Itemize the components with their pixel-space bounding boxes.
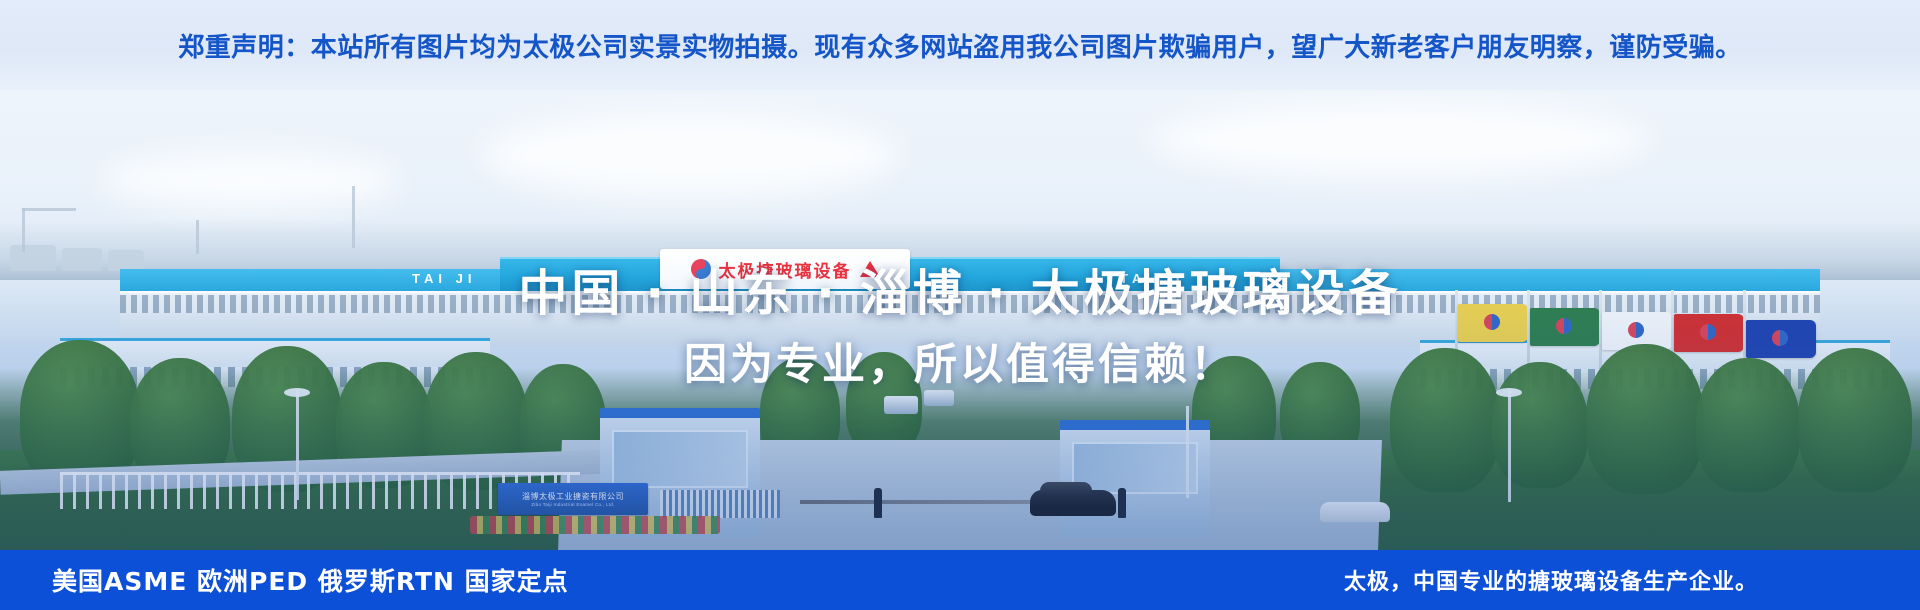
yin-yang-icon	[691, 259, 711, 279]
street-lamp-head	[1496, 388, 1522, 397]
building-label-right: TAI JI	[1120, 271, 1184, 286]
parked-vehicle	[924, 390, 954, 406]
street-lamp-head	[284, 388, 310, 397]
parked-vehicle	[884, 396, 918, 414]
crane-jib	[22, 208, 76, 211]
street-lamp-pole	[1508, 390, 1511, 502]
top-notice-bar: 郑重声明：本站所有图片均为太极公司实景实物拍摄。现有众多网站盗用我公司图片欺骗用…	[0, 0, 1920, 90]
flag-blue	[1746, 320, 1816, 358]
retractable-gate	[660, 490, 780, 518]
cloud-shape	[480, 110, 900, 200]
yin-yang-icon	[1700, 324, 1716, 340]
building-label-left: TAI JI	[412, 271, 476, 286]
hero-photo: TAI JI TAI JI 太极搪玻璃设备	[0, 90, 1920, 550]
tree	[1798, 348, 1912, 492]
tree	[1390, 348, 1500, 492]
crane-mast	[22, 208, 25, 252]
certifications-text: 美国ASME 欧洲PED 俄罗斯RTN 国家定点	[52, 562, 569, 598]
flag-red	[1674, 314, 1744, 352]
building-sign: 太极搪玻璃设备	[660, 249, 910, 289]
black-sedan	[1030, 490, 1116, 516]
yin-yang-icon	[1556, 318, 1572, 334]
yin-yang-icon	[1484, 314, 1500, 330]
company-tagline: 太极，中国专业的搪玻璃设备生产企业。	[1344, 564, 1758, 596]
cloud-shape	[1150, 100, 1650, 180]
company-name-cn: 淄博太极工业搪瓷有限公司	[522, 491, 624, 502]
chevron-up-icon	[860, 261, 880, 277]
white-car	[1320, 502, 1390, 522]
street-lamp-pole	[296, 390, 299, 500]
flag-yellow	[1458, 304, 1528, 342]
security-guard	[874, 488, 882, 518]
tree	[1586, 344, 1704, 494]
street-lamp-pole	[1186, 406, 1189, 498]
storage-tank	[62, 248, 102, 271]
yin-yang-icon	[1772, 330, 1788, 346]
bottom-info-bar: 美国ASME 欧洲PED 俄罗斯RTN 国家定点 太极，中国专业的搪玻璃设备生产…	[0, 550, 1920, 610]
roof-band-right	[1280, 269, 1820, 291]
yin-yang-icon	[1628, 322, 1644, 338]
flag-green	[1530, 308, 1600, 346]
promo-banner-page: 郑重声明：本站所有图片均为太极公司实景实物拍摄。现有众多网站盗用我公司图片欺骗用…	[0, 0, 1920, 610]
flower-bed	[470, 516, 720, 534]
cloud-shape	[100, 150, 400, 210]
company-name-sign: 淄博太极工业搪瓷有限公司 Zibo Taiji Industrial Ename…	[498, 483, 648, 515]
security-guard	[1118, 488, 1126, 518]
notice-text: 郑重声明：本站所有图片均为太极公司实景实物拍摄。现有众多网站盗用我公司图片欺骗用…	[178, 27, 1742, 64]
tree	[1696, 358, 1800, 492]
building-sign-text: 太极搪玻璃设备	[719, 257, 852, 282]
company-name-en: Zibo Taiji Industrial Enamel Co., Ltd.	[531, 502, 614, 507]
gatehouse-glass	[612, 430, 748, 488]
tree	[1492, 362, 1588, 488]
storage-tank	[10, 245, 56, 271]
